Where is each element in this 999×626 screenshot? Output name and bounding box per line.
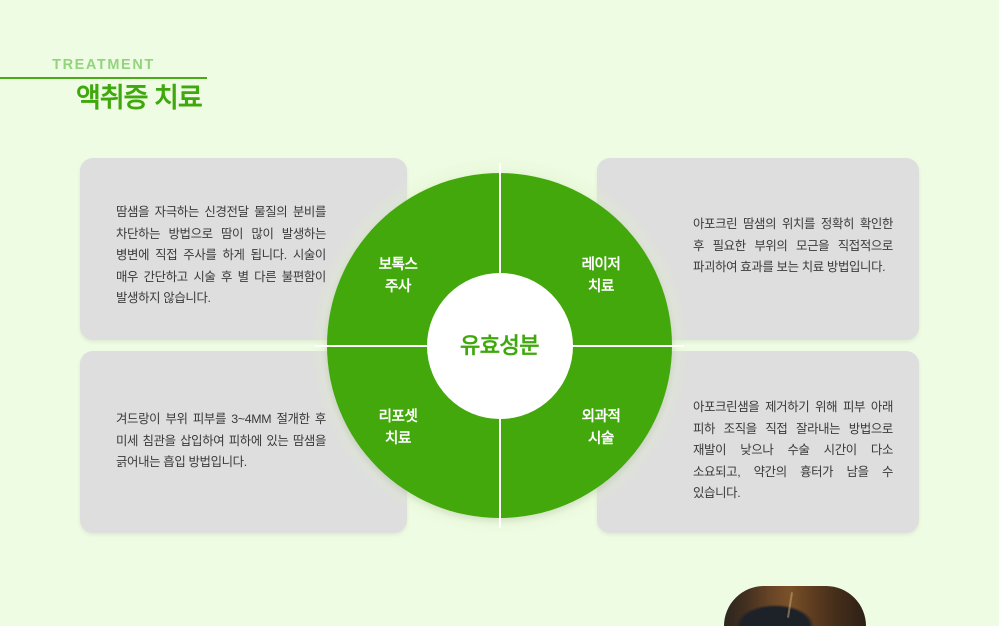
- donut-quadrant-laser: 레이저 치료: [551, 254, 651, 298]
- donut-diagram: 보톡스 주사 레이저 치료 리포셋 치료 외과적 시술 유효성분: [327, 173, 672, 518]
- page-header: TREATMENT 액취증 치료: [0, 55, 360, 125]
- info-card-surgical-body: 아포크린샘을 제거하기 위해 피부 아래 피하 조직을 직접 잘라내는 방법으로…: [693, 397, 893, 505]
- info-card-botox-body: 땀샘을 자극하는 신경전달 물질의 분비를 차단하는 방법으로 땀이 많이 발생…: [116, 202, 326, 310]
- donut-center-label: 유효성분: [327, 331, 672, 361]
- donut-quadrant-liposet: 리포셋 치료: [348, 406, 448, 450]
- donut-quadrant-botox-line1: 보톡스: [348, 254, 448, 276]
- header-divider-rule: [0, 77, 207, 79]
- donut-quadrant-surgical-line1: 외과적: [551, 406, 651, 428]
- page-title: 액취증 치료: [76, 81, 202, 115]
- donut-quadrant-botox-line2: 주사: [348, 276, 448, 298]
- donut-quadrant-liposet-line2: 치료: [348, 428, 448, 450]
- info-card-liposet-body: 겨드랑이 부위 피부를 3~4MM 절개한 후 미세 침관을 삽입하여 피하에 …: [116, 409, 326, 474]
- model-head-photo: [724, 586, 866, 626]
- hair-part-line: [787, 592, 793, 618]
- donut-quadrant-botox: 보톡스 주사: [348, 254, 448, 298]
- donut-quadrant-surgical: 외과적 시술: [551, 406, 651, 450]
- donut-quadrant-liposet-line1: 리포셋: [348, 406, 448, 428]
- donut-quadrant-laser-line1: 레이저: [551, 254, 651, 276]
- donut-quadrant-surgical-line2: 시술: [551, 428, 651, 450]
- section-eyebrow: TREATMENT: [0, 55, 207, 75]
- info-card-laser-body: 아포크린 땀샘의 위치를 정확히 확인한 후 필요한 부위의 모근을 직접적으로…: [693, 214, 893, 279]
- donut-quadrant-laser-line2: 치료: [551, 276, 651, 298]
